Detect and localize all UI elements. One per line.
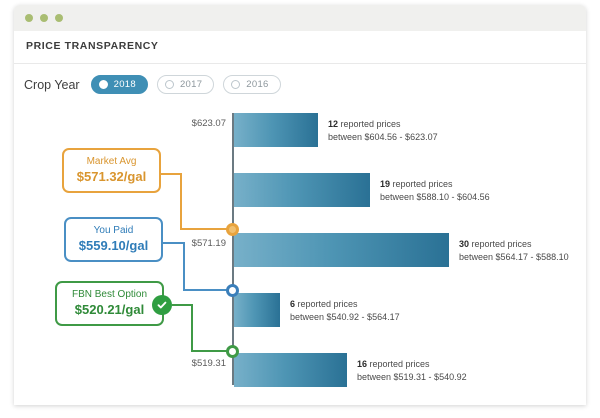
bar-range-4: between $540.92 - $564.17: [290, 312, 400, 322]
callout-market-average-title: Market Avg: [74, 156, 149, 167]
crop-year-option-2016[interactable]: 2016: [223, 75, 280, 94]
callout-market-average-value: $571.32/gal: [74, 170, 149, 184]
callout-you-paid-value: $559.10/gal: [76, 239, 151, 253]
close-dot-icon[interactable]: [25, 14, 33, 22]
bar-count-2: 19: [380, 179, 390, 189]
crop-year-option-2016-label: 2016: [246, 79, 268, 90]
bar-range-3: between $564.17 - $588.10: [459, 252, 569, 262]
fbn-best-option-marker[interactable]: [226, 345, 239, 358]
radio-icon-2016: [231, 80, 240, 89]
crop-year-selector: Crop Year 2018 2017 2016: [24, 75, 281, 94]
crop-year-option-2018-label: 2018: [114, 79, 136, 90]
bar-row-5[interactable]: [234, 353, 347, 387]
window-controls: [25, 14, 63, 22]
callout-you-paid-title: You Paid: [76, 225, 151, 236]
bar-note-2: 19 reported prices between $588.10 - $60…: [380, 178, 490, 204]
bar-note-prefix-5: reported prices: [370, 359, 430, 369]
bar-count-4: 6: [290, 299, 295, 309]
callout-fbn-best-option-title: FBN Best Option: [67, 289, 152, 300]
callout-fbn-best-option-value: $520.21/gal: [67, 303, 152, 317]
radio-icon-2017: [165, 80, 174, 89]
you-paid-marker[interactable]: [226, 284, 239, 297]
bar-note-prefix-3: reported prices: [472, 239, 532, 249]
browser-window: PRICE TRANSPARENCY Crop Year 2018 2017 2…: [14, 5, 586, 405]
callout-market-average[interactable]: Market Avg $571.32/gal: [62, 148, 161, 193]
window-titlebar: [14, 5, 586, 32]
bar-count-5: 16: [357, 359, 367, 369]
bar-row-2[interactable]: [234, 173, 370, 207]
bar-row-4[interactable]: [234, 293, 280, 327]
axis-label-top: $623.07: [166, 118, 226, 129]
check-icon: [152, 295, 172, 315]
bar-note-prefix-4: reported prices: [298, 299, 358, 309]
maximize-dot-icon[interactable]: [55, 14, 63, 22]
callout-you-paid[interactable]: You Paid $559.10/gal: [64, 217, 163, 262]
bar-range-2: between $588.10 - $604.56: [380, 192, 490, 202]
minimize-dot-icon[interactable]: [40, 14, 48, 22]
axis-label-middle: $571.19: [166, 238, 226, 249]
crop-year-option-2018[interactable]: 2018: [91, 75, 148, 94]
bar-range-5: between $519.31 - $540.92: [357, 372, 467, 382]
bar-count-1: 12: [328, 119, 338, 129]
bar-note-prefix-1: reported prices: [341, 119, 401, 129]
bar-note-4: 6 reported prices between $540.92 - $564…: [290, 298, 400, 324]
callout-fbn-best-option[interactable]: FBN Best Option $520.21/gal: [55, 281, 164, 326]
card-header: PRICE TRANSPARENCY: [14, 31, 586, 64]
bar-row-3[interactable]: [234, 233, 449, 267]
bar-range-1: between $604.56 - $623.07: [328, 132, 438, 142]
bar-note-5: 16 reported prices between $519.31 - $54…: [357, 358, 467, 384]
crop-year-option-2017[interactable]: 2017: [157, 75, 214, 94]
crop-year-option-2017-label: 2017: [180, 79, 202, 90]
bar-note-1: 12 reported prices between $604.56 - $62…: [328, 118, 438, 144]
radio-icon-2018: [99, 80, 108, 89]
bar-count-3: 30: [459, 239, 469, 249]
bar-note-prefix-2: reported prices: [393, 179, 453, 189]
screenshot-root: PRICE TRANSPARENCY Crop Year 2018 2017 2…: [0, 0, 600, 418]
bar-row-1[interactable]: [234, 113, 318, 147]
market-average-marker[interactable]: [226, 223, 239, 236]
axis-label-bottom: $519.31: [166, 358, 226, 369]
page-title: PRICE TRANSPARENCY: [26, 40, 159, 52]
crop-year-label: Crop Year: [24, 78, 80, 92]
bar-note-3: 30 reported prices between $564.17 - $58…: [459, 238, 569, 264]
